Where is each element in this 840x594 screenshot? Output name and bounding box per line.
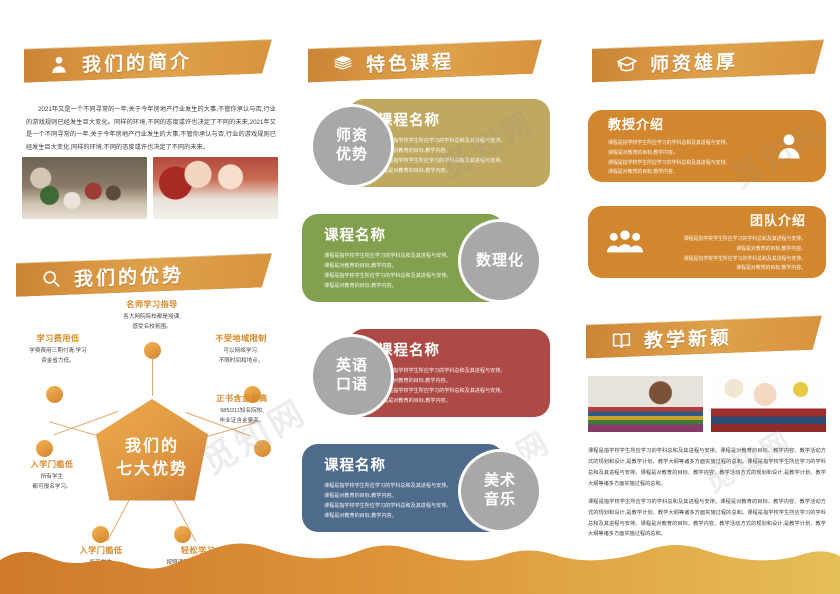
advantage-label-4: 入学门槛低 所有学生都可报名学习。 [0,458,104,493]
classroom-photo [22,157,147,219]
course-card-0[interactable]: 课程名称 课程是指学校学生所应学习的学科总和及其进程与安排。课程是对教育的目标,… [302,99,550,187]
teacher-card-text: 教授介绍 课程是指学校学生所应学习的学科总和及其进程与安排。课程是对教育的目标,… [608,114,766,177]
person-icon [766,131,812,161]
people-group-icon [602,228,648,256]
books-icon [330,51,356,78]
intro-photo-row [22,157,278,219]
banner-advantage-label: 我们的优势 [74,260,184,291]
banner-intro: 我们的简介 [24,39,272,83]
advantage-node [46,386,63,403]
advantage-diagram: 我们的 七大优势 名师学习指导 各大网院院校都是授课,感受名校氛围。 学习费用低… [0,296,300,554]
course-bubble-3[interactable]: 美术音乐 [458,449,542,533]
person-icon [46,51,72,78]
teacher-card-professor[interactable]: 教授介绍 课程是指学校学生所应学习的学科总和及其进程与安排。课程是对教育的目标,… [588,110,826,182]
banner-teachers-label: 师资雄厚 [650,46,738,76]
intro-paragraph: 2021年又是一个不同寻常的一年,关于今年房地产行业发生的大事,不管你承认与否,… [26,104,276,155]
advantage-node [254,440,271,457]
open-book-icon [608,327,634,354]
banner-advantage: 我们的优势 [16,253,272,297]
teaching-photo-row [588,376,826,432]
course-bubble-2[interactable]: 英语口语 [310,334,394,418]
course-card-3[interactable]: 课程名称 课程是指学校学生所应学习的学科总和及其进程与安排。课程是对教育的目标,… [302,444,550,532]
advantage-label-0: 名师学习指导 各大网院院校都是授课,感受名校氛围。 [88,298,216,333]
course-bubble-1[interactable]: 数理化 [458,219,542,303]
banner-teaching-label: 教学新颖 [644,322,732,352]
course-bubble-0[interactable]: 师资优势 [310,104,394,188]
graduation-cap-icon [614,51,640,78]
bottom-wave-decoration [0,532,840,594]
teacher-card-text: 团队介绍 课程是指学校学生所应学习的学科总和及其进程与安排。课程是对教育的目标,… [648,210,806,273]
banner-teachers: 师资雄厚 [592,40,824,83]
students-writing-photo [153,157,278,219]
banner-teaching: 教学新颖 [586,315,822,358]
advantage-label-2: 不受地域限制 可以网络学习,不限时间和地点。 [184,332,298,367]
advantage-label-3: 正书含金量高 985/211知名院校,毕业证含金量高。 [186,392,298,427]
advantage-node [144,342,161,359]
brochure-page: 我们的简介 我们的优势 特色课程 师资雄厚 [0,0,840,594]
banner-intro-label: 我们的简介 [82,46,192,77]
advantage-label-1: 学习费用低 学费费用三期付清,学习资金省力低。 [2,332,114,367]
search-icon [38,265,64,292]
course-card-2[interactable]: 课程名称 课程是指学校学生所应学习的学科总和及其进程与安排。课程是对教育的目标,… [302,329,550,417]
course-card-1[interactable]: 课程名称 课程是指学校学生所应学习的学科总和及其进程与安排。课程是对教育的目标,… [302,214,550,302]
advantage-node [36,440,53,457]
banner-course-label: 特色课程 [366,46,454,76]
girl-reading-books-photo [588,376,703,432]
banner-course: 特色课程 [308,40,542,83]
teacher-card-team[interactable]: 团队介绍 课程是指学校学生所应学习的学科总和及其进程与安排。课程是对教育的目标,… [588,206,826,278]
advantage-center-line1: 我们的 [125,435,179,458]
advantage-center-line2: 七大优势 [116,458,188,481]
child-learning-icons-photo [711,376,826,432]
teaching-paragraph-1: 课程是指学校学生所应学习的学科总和及其进程与安排。课程是对教育的目标、教学内容、… [588,446,826,490]
